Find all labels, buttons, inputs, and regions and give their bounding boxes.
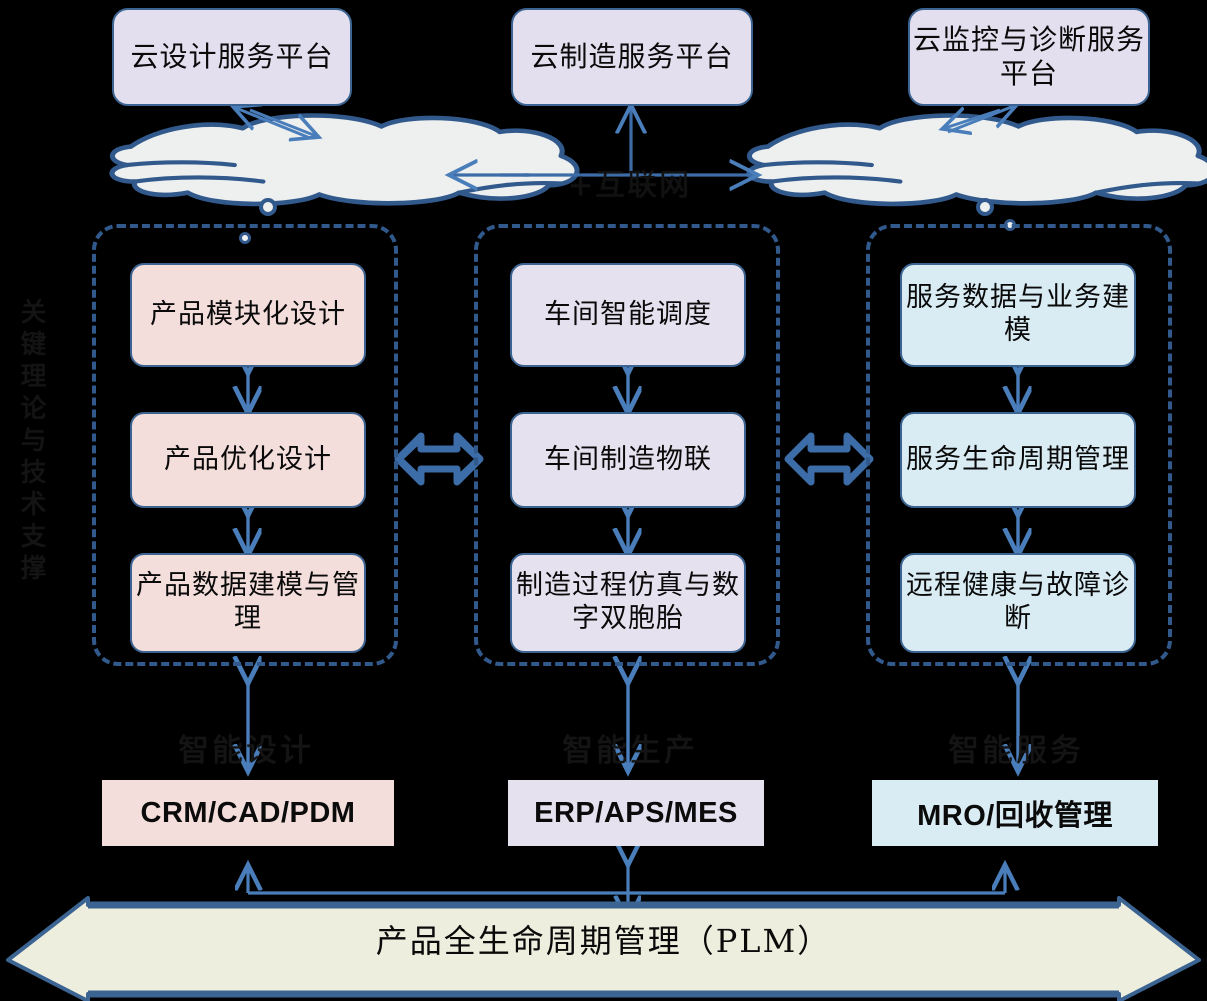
stage-label-intelligent-design: 智能设计	[178, 725, 314, 770]
node-product-data-modeling[interactable]: 产品数据建模与管理	[130, 553, 366, 653]
legacy-system-crm-cad-pdm[interactable]: CRM/CAD/PDM	[102, 780, 394, 846]
legacy-system-mro-recycling[interactable]: MRO/回收管理	[872, 780, 1158, 846]
vertical-caption: 关键理论与技术支撑	[6, 232, 50, 652]
legacy-system-label: CRM/CAD/PDM	[141, 797, 356, 830]
legacy-system-erp-aps-mes[interactable]: ERP/APS/MES	[508, 780, 764, 846]
node-remote-health-fault-diagnosis[interactable]: 远程健康与故障诊断	[900, 553, 1136, 653]
stage-label-intelligent-production: 智能生产	[562, 725, 698, 770]
node-label: 远程健康与故障诊断	[902, 570, 1134, 636]
cloud-bubble-left-1	[261, 200, 275, 214]
node-service-data-business-modeling[interactable]: 服务数据与业务建模	[900, 263, 1136, 367]
cloud-bubble-right-1	[978, 200, 992, 214]
cloud-platform-design-label: 云设计服务平台	[130, 40, 333, 74]
node-label: 制造过程仿真与数字双胞胎	[512, 570, 744, 636]
cloud-platform-manufacturing[interactable]: 云制造服务平台	[511, 8, 753, 106]
node-workshop-manufacturing-iot[interactable]: 车间制造物联	[510, 412, 746, 508]
cloud-platform-manufacturing-label: 云制造服务平台	[530, 40, 733, 74]
node-service-lifecycle-management[interactable]: 服务生命周期管理	[900, 412, 1136, 508]
cloud-right	[749, 115, 1207, 203]
node-workshop-intelligent-scheduling[interactable]: 车间智能调度	[510, 263, 746, 367]
arrow-col1-to-col2	[398, 436, 480, 482]
arrow-cloud-left-to-platform	[236, 108, 316, 138]
node-process-simulation-digital-twin[interactable]: 制造过程仿真与数字双胞胎	[510, 553, 746, 653]
arrow-cloud-right-to-platform	[945, 106, 1014, 132]
node-label: 车间制造物联	[544, 444, 712, 477]
node-label: 产品优化设计	[164, 444, 332, 477]
diagram-canvas: right cloud, with stem up ---------- -->	[0, 0, 1207, 1001]
cloud-left	[112, 115, 577, 203]
cloud-platform-design[interactable]: 云设计服务平台	[112, 8, 352, 106]
legacy-system-label: ERP/APS/MES	[534, 797, 738, 830]
node-label: 车间智能调度	[544, 299, 712, 332]
cloud-platform-monitoring-label: 云监控与诊断服务平台	[910, 23, 1148, 91]
stage-label-intelligent-service: 智能服务	[948, 725, 1084, 770]
legacy-system-label: MRO/回收管理	[917, 792, 1113, 834]
arrow-col2-to-col3	[788, 436, 870, 482]
node-label: 服务数据与业务建模	[902, 282, 1134, 348]
node-label: 产品模块化设计	[150, 299, 346, 332]
internet-label: +互联网	[568, 160, 691, 204]
node-label: 产品数据建模与管理	[132, 570, 364, 636]
node-product-modular-design[interactable]: 产品模块化设计	[130, 263, 366, 367]
plm-connector-bus	[248, 862, 1005, 918]
node-label: 服务生命周期管理	[906, 444, 1130, 477]
node-product-optimization-design[interactable]: 产品优化设计	[130, 412, 366, 508]
cloud-platform-monitoring[interactable]: 云监控与诊断服务平台	[908, 8, 1150, 106]
plm-banner-label: 产品全生命周期管理（PLM）	[0, 916, 1207, 962]
